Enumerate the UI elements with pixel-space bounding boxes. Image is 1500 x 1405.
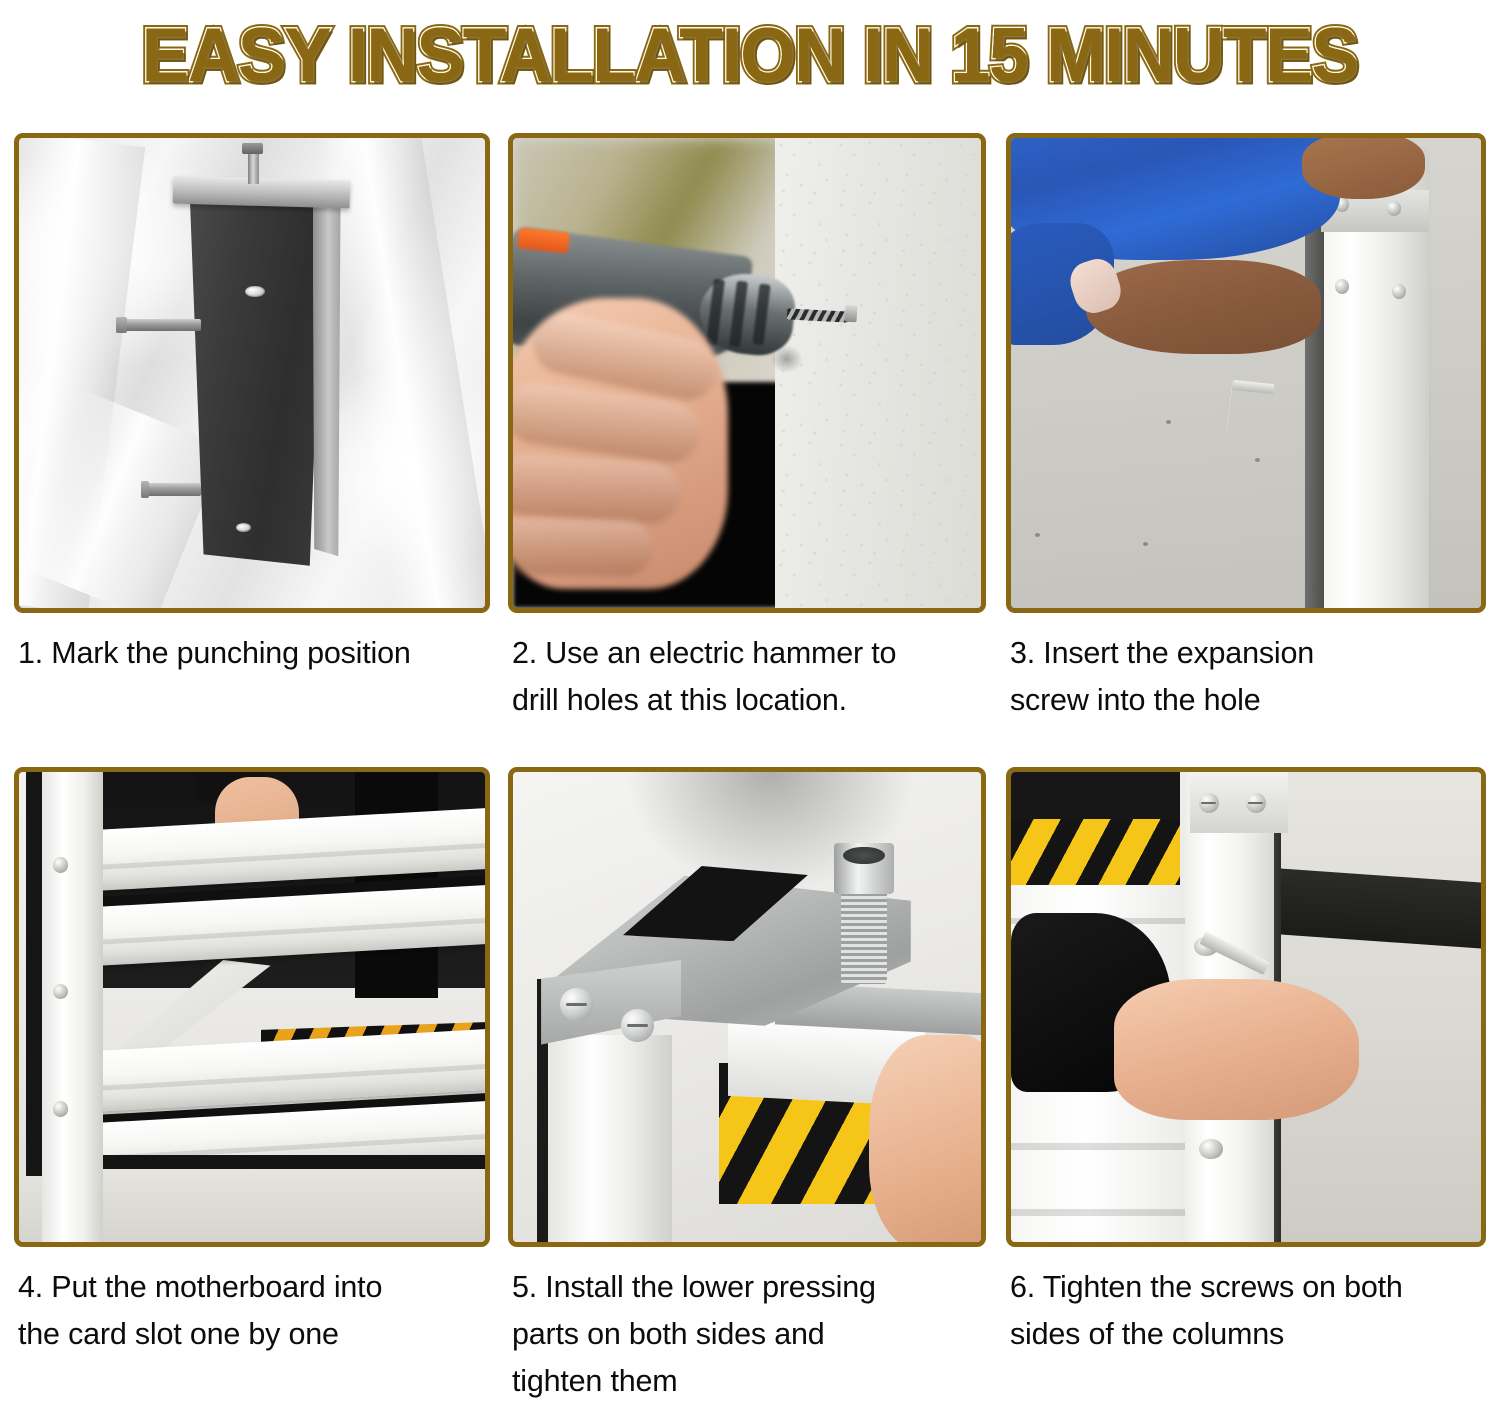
- caption-line: screw into the hole: [1010, 677, 1484, 724]
- caption-step-3: 3. Insert the expansion screw into the h…: [1010, 630, 1484, 724]
- photo-insert-expansion-screw: [1006, 133, 1486, 613]
- step-card-4: 4. Put the motherboard into the card slo…: [14, 767, 490, 1403]
- caption-line: sides of the columns: [1010, 1311, 1484, 1358]
- caption-step-1: 1. Mark the punching position: [18, 630, 488, 677]
- caption-line: 3. Insert the expansion: [1010, 630, 1484, 677]
- steps-grid: 1. Mark the punching position: [0, 112, 1500, 1403]
- caption-line: tighten them: [512, 1358, 984, 1405]
- caption-line: 1. Mark the punching position: [18, 630, 488, 677]
- caption-step-2: 2. Use an electric hammer to drill holes…: [512, 630, 984, 724]
- step-card-3: 3. Insert the expansion screw into the h…: [1006, 133, 1486, 763]
- caption-line: parts on both sides and: [512, 1311, 984, 1358]
- caption-step-5: 5. Install the lower pressing parts on b…: [512, 1264, 984, 1405]
- caption-line: 6. Tighten the screws on both: [1010, 1264, 1484, 1311]
- caption-step-6: 6. Tighten the screws on both sides of t…: [1010, 1264, 1484, 1358]
- step-card-5: 5. Install the lower pressing parts on b…: [508, 767, 986, 1403]
- installation-guide-page: EASY INSTALLATION IN 15 MINUTES EASY INS…: [0, 0, 1500, 1403]
- step-card-2: 2. Use an electric hammer to drill holes…: [508, 133, 986, 763]
- caption-line: 2. Use an electric hammer to: [512, 630, 984, 677]
- page-title-fill-layer: EASY INSTALLATION IN 15 MINUTES: [142, 17, 1358, 95]
- photo-insert-motherboard: [14, 767, 490, 1247]
- photo-mark-punching-position: [14, 133, 490, 613]
- caption-line: drill holes at this location.: [512, 677, 984, 724]
- photo-tighten-screws: [1006, 767, 1486, 1247]
- caption-line: 5. Install the lower pressing: [512, 1264, 984, 1311]
- title-banner: EASY INSTALLATION IN 15 MINUTES EASY INS…: [0, 0, 1500, 112]
- caption-line: 4. Put the motherboard into: [18, 1264, 488, 1311]
- photo-drill-holes: [508, 133, 986, 613]
- caption-step-4: 4. Put the motherboard into the card slo…: [18, 1264, 488, 1358]
- photo-install-pressing-parts: [508, 767, 986, 1247]
- step-card-1: 1. Mark the punching position: [14, 133, 490, 763]
- page-title: EASY INSTALLATION IN 15 MINUTES EASY INS…: [142, 17, 1358, 95]
- step-card-6: 6. Tighten the screws on both sides of t…: [1006, 767, 1486, 1403]
- caption-line: the card slot one by one: [18, 1311, 488, 1358]
